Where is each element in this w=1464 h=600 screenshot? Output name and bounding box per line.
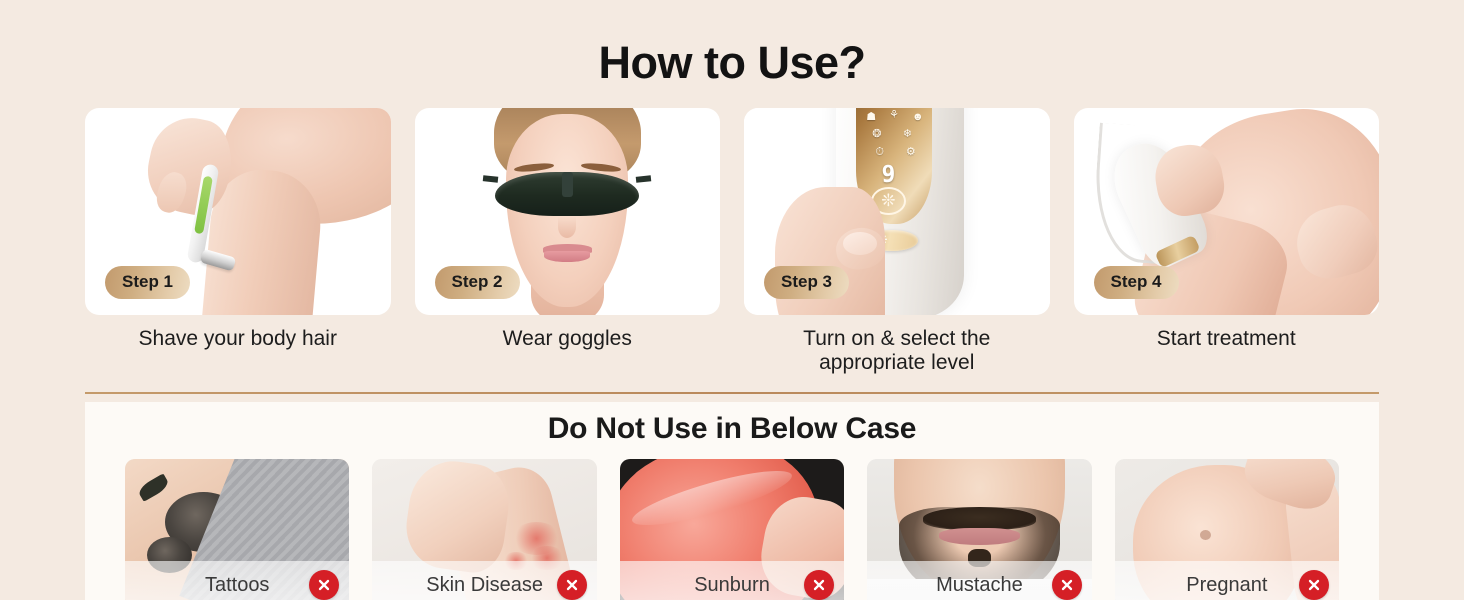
step-caption-3-line2: appropriate level [819, 351, 974, 374]
x-circle-icon [1299, 570, 1329, 600]
thumbnail-shape [843, 232, 877, 255]
step-caption-1: Shave your body hair [139, 327, 337, 351]
warning-label-sunburn: Sunburn [694, 574, 770, 597]
navel-shape [1200, 530, 1211, 541]
warning-card-skin-disease[interactable]: Skin Disease [372, 459, 596, 600]
warning-cards-row: Tattoos Skin Disease [85, 446, 1379, 600]
step-badge-2: Step 2 [435, 266, 520, 299]
leg-icon: ❂ [872, 129, 881, 140]
x-circle-icon [1052, 570, 1082, 600]
step-caption-2: Wear goggles [503, 327, 632, 351]
clock-icon: ⏱ [875, 147, 884, 158]
lips-shape [939, 528, 1020, 545]
step-card-2[interactable]: Step 2 [415, 108, 721, 315]
step-item-1: Step 1 Shave your body hair [85, 108, 391, 374]
face-icon: ☻ [912, 112, 924, 123]
step-caption-3: Turn on & select the appropriate level [803, 327, 990, 374]
warning-card-sunburn[interactable]: Sunburn [620, 459, 844, 600]
step-card-3[interactable]: ☗ ⚘ ☻ ❂ ❄ ⏱ ⚙ 9 ❊ ❊ Step 3 [744, 108, 1050, 315]
gear-icon: ⚙ [906, 147, 916, 158]
mustache-shape [923, 507, 1035, 530]
x-circle-icon [557, 570, 587, 600]
step-caption-4: Start treatment [1157, 327, 1296, 351]
step-card-4[interactable]: Step 4 [1074, 108, 1380, 315]
step-item-4: Step 4 Start treatment [1074, 108, 1380, 374]
warning-label-skin-disease: Skin Disease [426, 574, 543, 597]
step-card-1[interactable]: Step 1 [85, 108, 391, 315]
warning-title: Do Not Use in Below Case [85, 412, 1379, 446]
warning-card-mustache[interactable]: Mustache [867, 459, 1091, 600]
goggles-temple-left [483, 176, 499, 184]
step-badge-1: Step 1 [105, 266, 190, 299]
warning-card-tattoos[interactable]: Tattoos [125, 459, 349, 600]
step-caption-3-line1: Turn on & select the [803, 327, 990, 350]
step-item-2: Step 2 Wear goggles [415, 108, 721, 374]
warning-panel: Do Not Use in Below Case Tattoos [85, 402, 1379, 600]
arm-icon: ❄ [903, 129, 912, 140]
underarm-icon: ☗ [866, 112, 876, 123]
warning-label-tattoos: Tattoos [205, 574, 269, 597]
warning-label-mustache: Mustache [936, 574, 1023, 597]
goggles-bridge [562, 172, 573, 197]
goggles-temple-right [636, 176, 652, 184]
warning-card-pregnant[interactable]: Pregnant [1115, 459, 1339, 600]
steps-row: Step 1 Shave your body hair Step 2 Wear [0, 108, 1464, 374]
step-badge-4: Step 4 [1094, 266, 1179, 299]
step-badge-3: Step 3 [764, 266, 849, 299]
step-item-3: ☗ ⚘ ☻ ❂ ❄ ⏱ ⚙ 9 ❊ ❊ Step 3 Turn on & sel… [744, 108, 1050, 374]
device-level-value: 9 [881, 162, 895, 188]
section-divider [85, 392, 1379, 394]
warning-label-pregnant: Pregnant [1186, 574, 1267, 597]
bikini-icon: ⚘ [889, 110, 899, 121]
page-title: How to Use? [0, 0, 1464, 85]
